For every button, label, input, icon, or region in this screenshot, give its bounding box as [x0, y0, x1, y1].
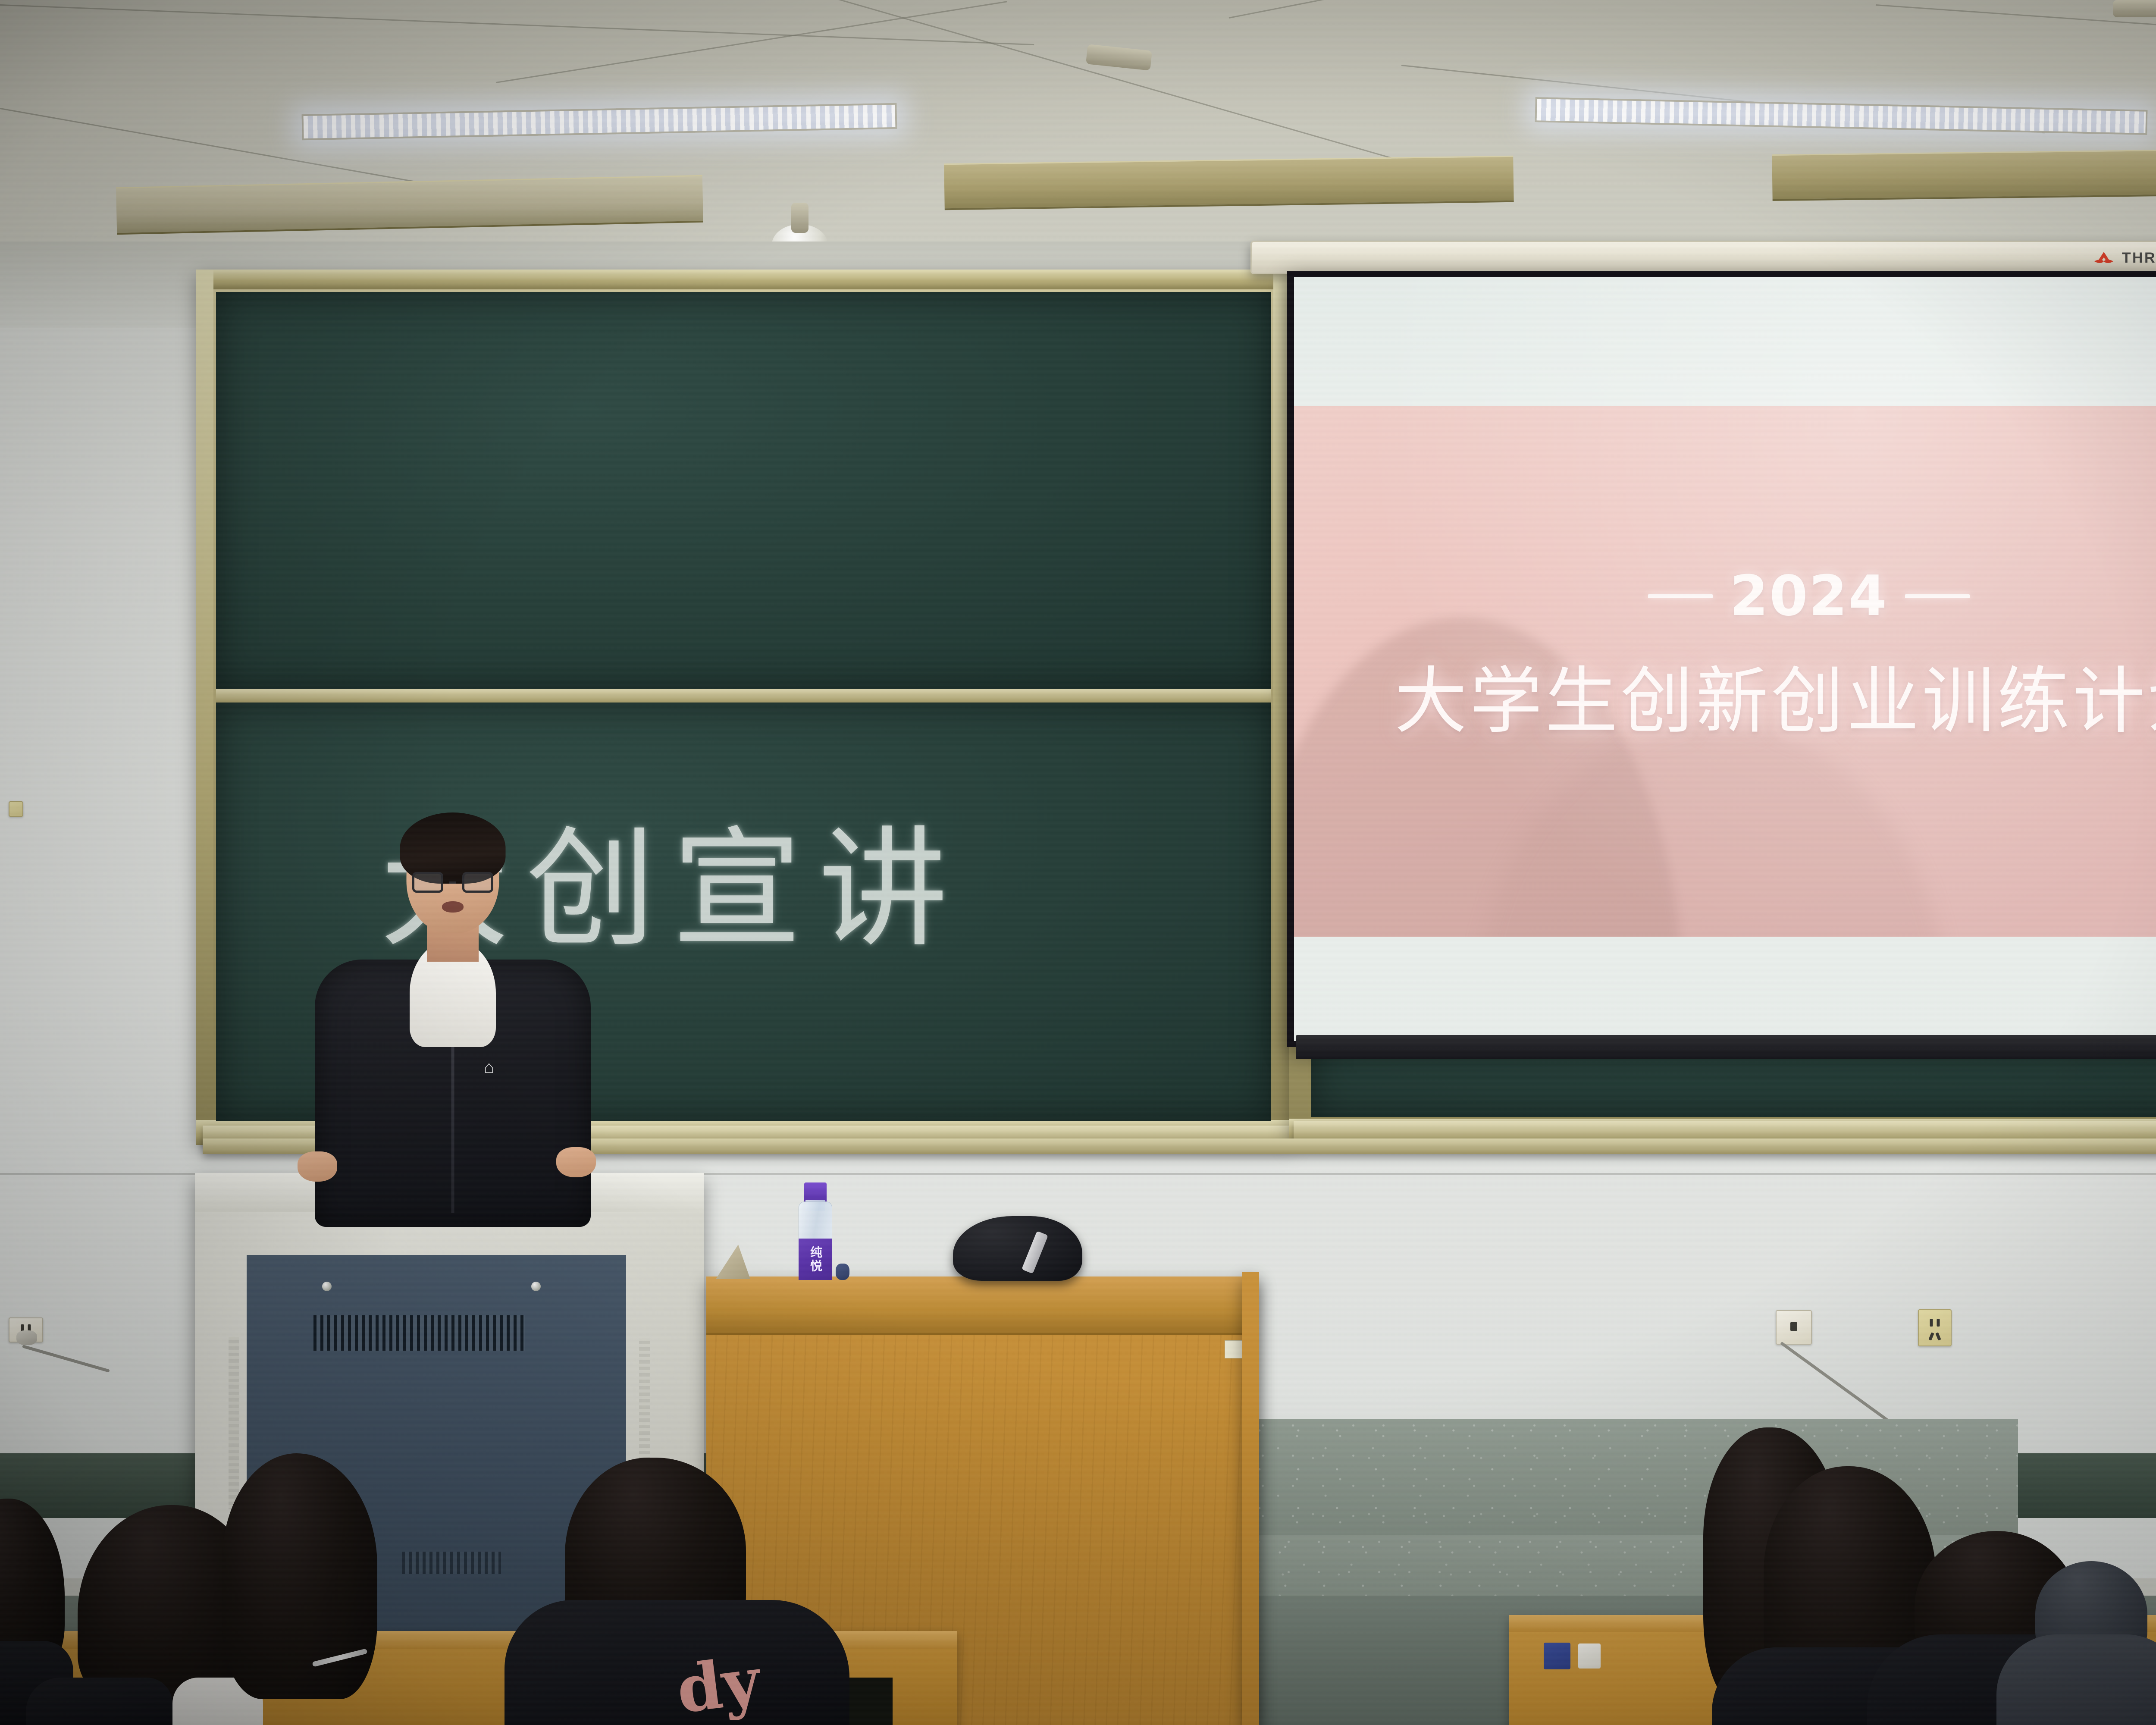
threeleaves-logo-icon — [2092, 250, 2116, 267]
slide-year: 2024 — [1730, 564, 1888, 628]
wall-outlet-far-left[interactable] — [9, 801, 23, 817]
small-box-package[interactable] — [730, 1253, 790, 1280]
ceiling — [0, 0, 2156, 267]
slide-dash-right — [1905, 594, 1970, 598]
desk-sticker-2 — [1578, 1643, 1601, 1669]
projection-screen: 2024 大学生创新创业训练计划 — [1294, 277, 2156, 1041]
pipe-stub — [2113, 0, 2156, 17]
classroom-scene: 大创宣讲 THREELEAVES — [0, 0, 2156, 1725]
wooden-desk-side-panel — [1242, 1272, 1259, 1725]
small-blue-object[interactable] — [836, 1264, 849, 1280]
slide-year-row: 2024 — [1294, 564, 2156, 628]
projector-brand-label: THREELEAVES — [2122, 250, 2156, 267]
screen-bottom-bar — [1296, 1035, 2156, 1059]
power-plug — [16, 1330, 37, 1345]
fluorescent-ceiling-panel — [302, 103, 897, 140]
presenter-hand-right — [556, 1147, 596, 1177]
projector-brand: THREELEAVES — [2092, 250, 2156, 267]
ceiling-beam — [116, 175, 703, 235]
chalk-tray-right — [1294, 1121, 2156, 1140]
projector-screen-housing: THREELEAVES — [1250, 241, 2156, 274]
ceiling-beam — [944, 156, 1514, 210]
presenter: ⌂ — [315, 793, 591, 1225]
fluorescent-ceiling-panel — [1535, 97, 2148, 135]
glasses-lens-left — [412, 872, 443, 893]
screen-frame: 2024 大学生创新创业训练计划 — [1287, 271, 2156, 1047]
presenter-hand-left — [298, 1151, 337, 1182]
podium-side-vent-right — [639, 1338, 650, 1467]
glasses-lens-right — [462, 872, 493, 893]
water-bottle[interactable]: 纯悦 — [799, 1201, 832, 1280]
desk-sticker — [1544, 1643, 1570, 1669]
pipe-stub — [1086, 44, 1152, 70]
student-gray-hoodie — [1996, 1561, 2156, 1725]
ceiling-beam — [1772, 147, 2156, 201]
presenter-mouth — [442, 901, 464, 913]
student-center-hoodie: dy — [513, 1458, 849, 1725]
wall-outlet-center[interactable] — [1918, 1309, 1952, 1346]
hoodie-graphic: dy — [673, 1643, 764, 1725]
network-jack-plate[interactable] — [1776, 1310, 1812, 1345]
podium-vent-lower — [402, 1552, 501, 1574]
presenter-glasses — [412, 872, 493, 893]
slide-title: 大学生创新创业训练计划 — [1294, 643, 2156, 747]
podium-vent — [313, 1315, 525, 1351]
backpack-strap — [1022, 1231, 1048, 1273]
presentation-slide: 2024 大学生创新创业训练计划 — [1294, 406, 2156, 937]
glasses-bridge — [449, 881, 456, 884]
bottle-label: 纯悦 — [799, 1239, 832, 1280]
jacket-chest-logo: ⌂ — [484, 1058, 494, 1077]
student-center-left-ponytail — [196, 1453, 403, 1725]
black-backpack[interactable] — [953, 1216, 1082, 1281]
slide-dash-left — [1648, 594, 1713, 598]
pipe-stub — [791, 203, 808, 233]
